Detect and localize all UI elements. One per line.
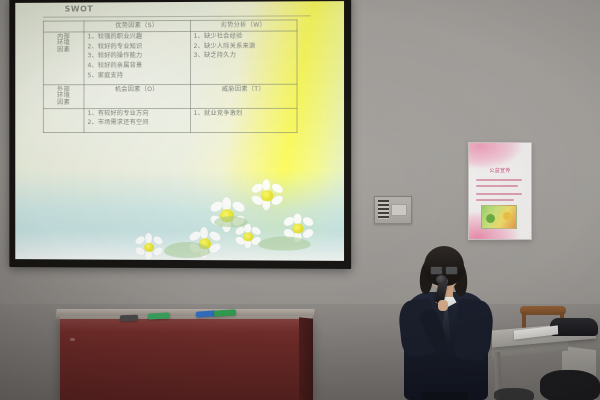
photo-vignette bbox=[0, 0, 600, 400]
lecture-room-photo: SWOT 优势因素（S） 劣势分析（W） 内部 环境 因素 1、较强的职业兴趣 bbox=[0, 0, 600, 400]
